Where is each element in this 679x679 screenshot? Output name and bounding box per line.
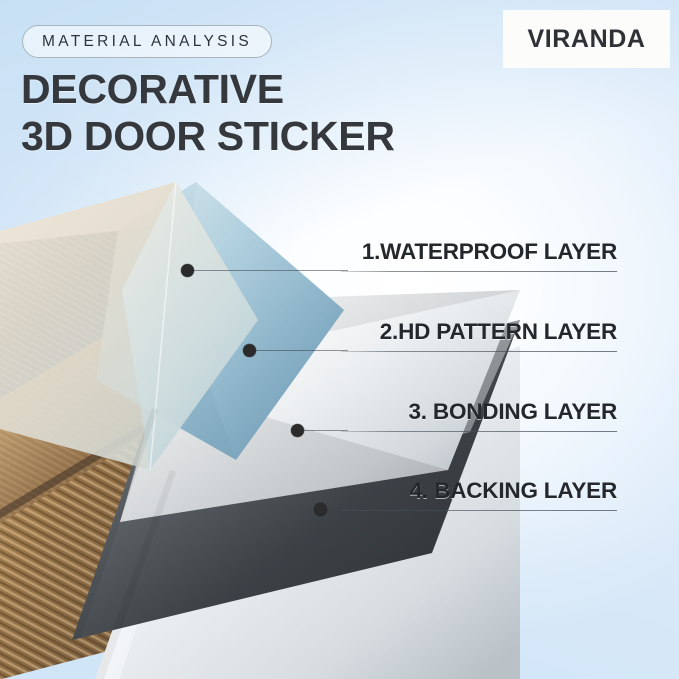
brand-logo: VIRANDA [503, 10, 670, 68]
leader-line-1 [193, 270, 348, 271]
title-line-1: DECORATIVE [21, 66, 395, 113]
callout-dot-2 [243, 344, 256, 357]
title-line-2: 3D DOOR STICKER [21, 113, 395, 160]
callout-1: 1.WATERPROOF LAYER [341, 236, 648, 272]
page-title: DECORATIVE 3D DOOR STICKER [21, 66, 395, 160]
callout-2: 2.HD PATTERN LAYER [341, 316, 648, 352]
callout-1-label: 1.WATERPROOF LAYER [362, 239, 617, 265]
callout-2-underline [341, 351, 617, 352]
callout-3-underline [341, 431, 617, 432]
callout-3-label: 3. BONDING LAYER [408, 399, 617, 425]
callout-3: 3. BONDING LAYER [341, 396, 648, 432]
callout-4-underline [341, 510, 617, 511]
leader-line-2 [255, 350, 348, 351]
material-analysis-badge: MATERIAL ANALYSIS [22, 25, 272, 58]
brand-logo-text: VIRANDA [527, 25, 645, 54]
badge-label: MATERIAL ANALYSIS [42, 33, 252, 51]
callout-dot-1 [181, 264, 194, 277]
callout-dot-3 [291, 424, 304, 437]
callout-1-underline [341, 271, 617, 272]
callout-4-label: 4. BACKING LAYER [410, 478, 617, 504]
callout-dot-4 [314, 503, 327, 516]
callout-2-label: 2.HD PATTERN LAYER [380, 319, 617, 345]
callout-4: 4. BACKING LAYER [341, 475, 648, 511]
material-analysis-infographic: MATERIAL ANALYSIS DECORATIVE 3D DOOR STI… [0, 0, 679, 679]
